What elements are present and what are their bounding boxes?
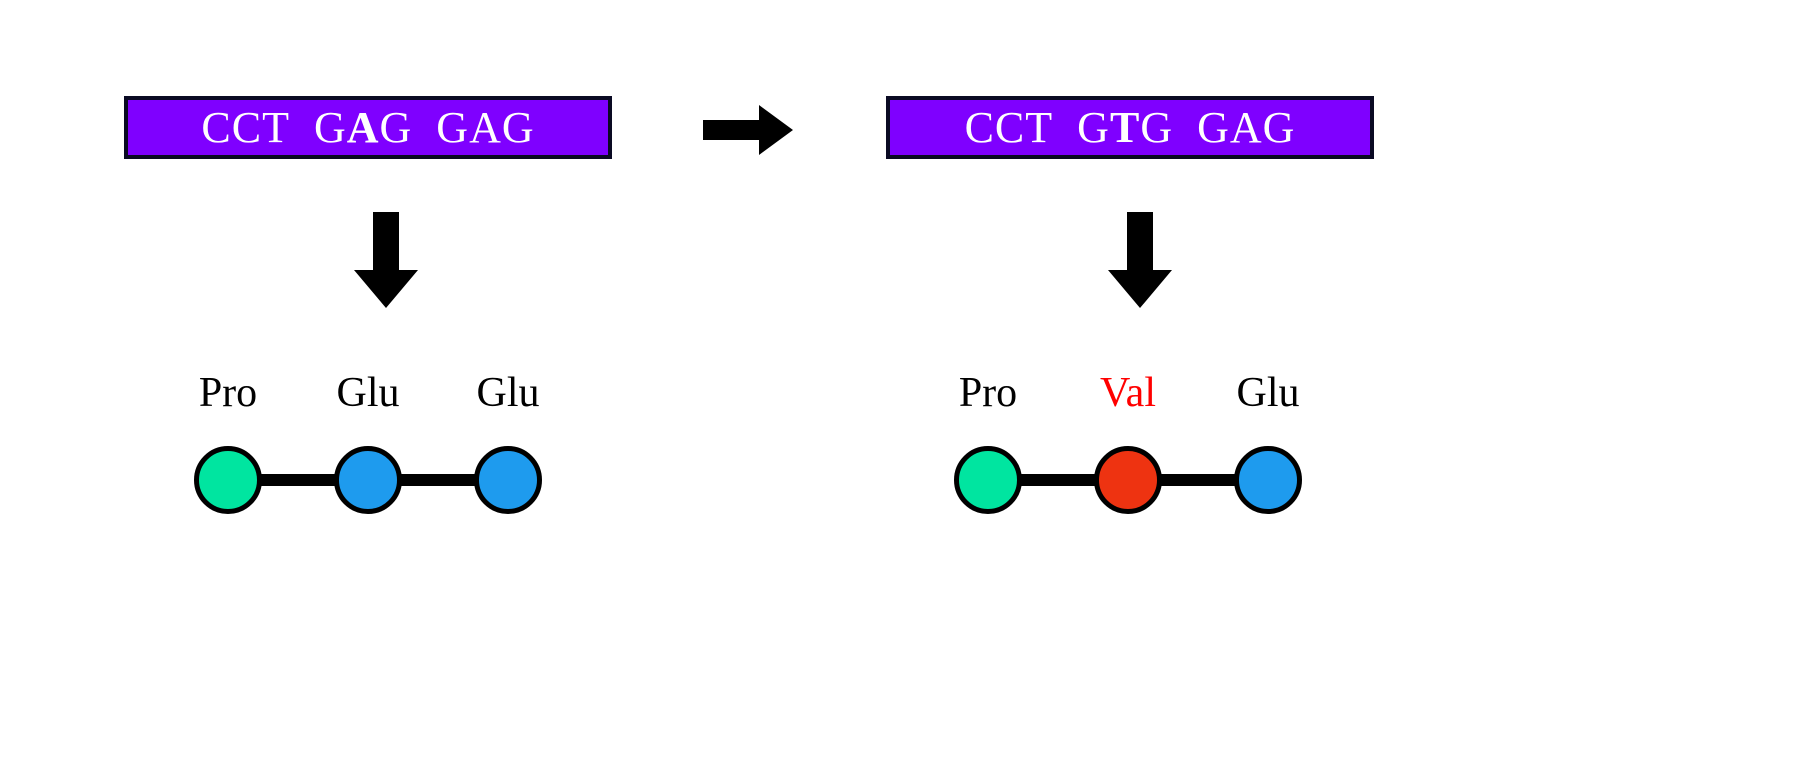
residue-label-2-normal: Glu [337,372,400,414]
codon-3-mutant: GAG [1197,103,1295,152]
peptide-graphic-normal [150,440,610,520]
codon-2-normal: GAG [314,103,412,152]
residue-circle-2-normal [334,446,402,514]
peptide-chain-mutant: Pro Val Glu [910,372,1370,532]
right-arrow-icon [703,105,793,155]
residue-label-1-mutant: Pro [959,372,1017,414]
residue-label-3-normal: Glu [477,372,540,414]
peptide-chain-normal: Pro Glu Glu [150,372,610,532]
codon-1-normal: CCT [201,103,290,152]
peptide-labels-normal: Pro Glu Glu [150,372,610,428]
transcription-arrow-normal [340,212,432,308]
dna-sequence-text-normal: CCT GAG GAG [201,106,534,150]
codon-3-normal: GAG [436,103,534,152]
residue-circle-1-mutant [954,446,1022,514]
residue-label-3-mutant: Glu [1237,372,1300,414]
residue-circle-1-normal [194,446,262,514]
residue-circle-3-normal [474,446,542,514]
peptide-graphic-mutant [910,440,1370,520]
figure-canvas: CCT GAG GAG Pro Glu Glu CCT GTG GAG [0,0,1818,758]
residue-circle-3-mutant [1234,446,1302,514]
codon-1-mutant: CCT [965,103,1054,152]
dna-sequence-box-mutant: CCT GTG GAG [886,96,1374,159]
peptide-labels-mutant: Pro Val Glu [910,372,1370,428]
transcription-arrow-mutant [1094,212,1186,308]
residue-circle-2-mutant [1094,446,1162,514]
dna-sequence-box-normal: CCT GAG GAG [124,96,612,159]
residue-label-1-normal: Pro [199,372,257,414]
dna-sequence-text-mutant: CCT GTG GAG [965,106,1296,150]
codon-2-mutant: GTG [1077,103,1173,152]
residue-label-2-mutant: Val [1100,372,1156,414]
